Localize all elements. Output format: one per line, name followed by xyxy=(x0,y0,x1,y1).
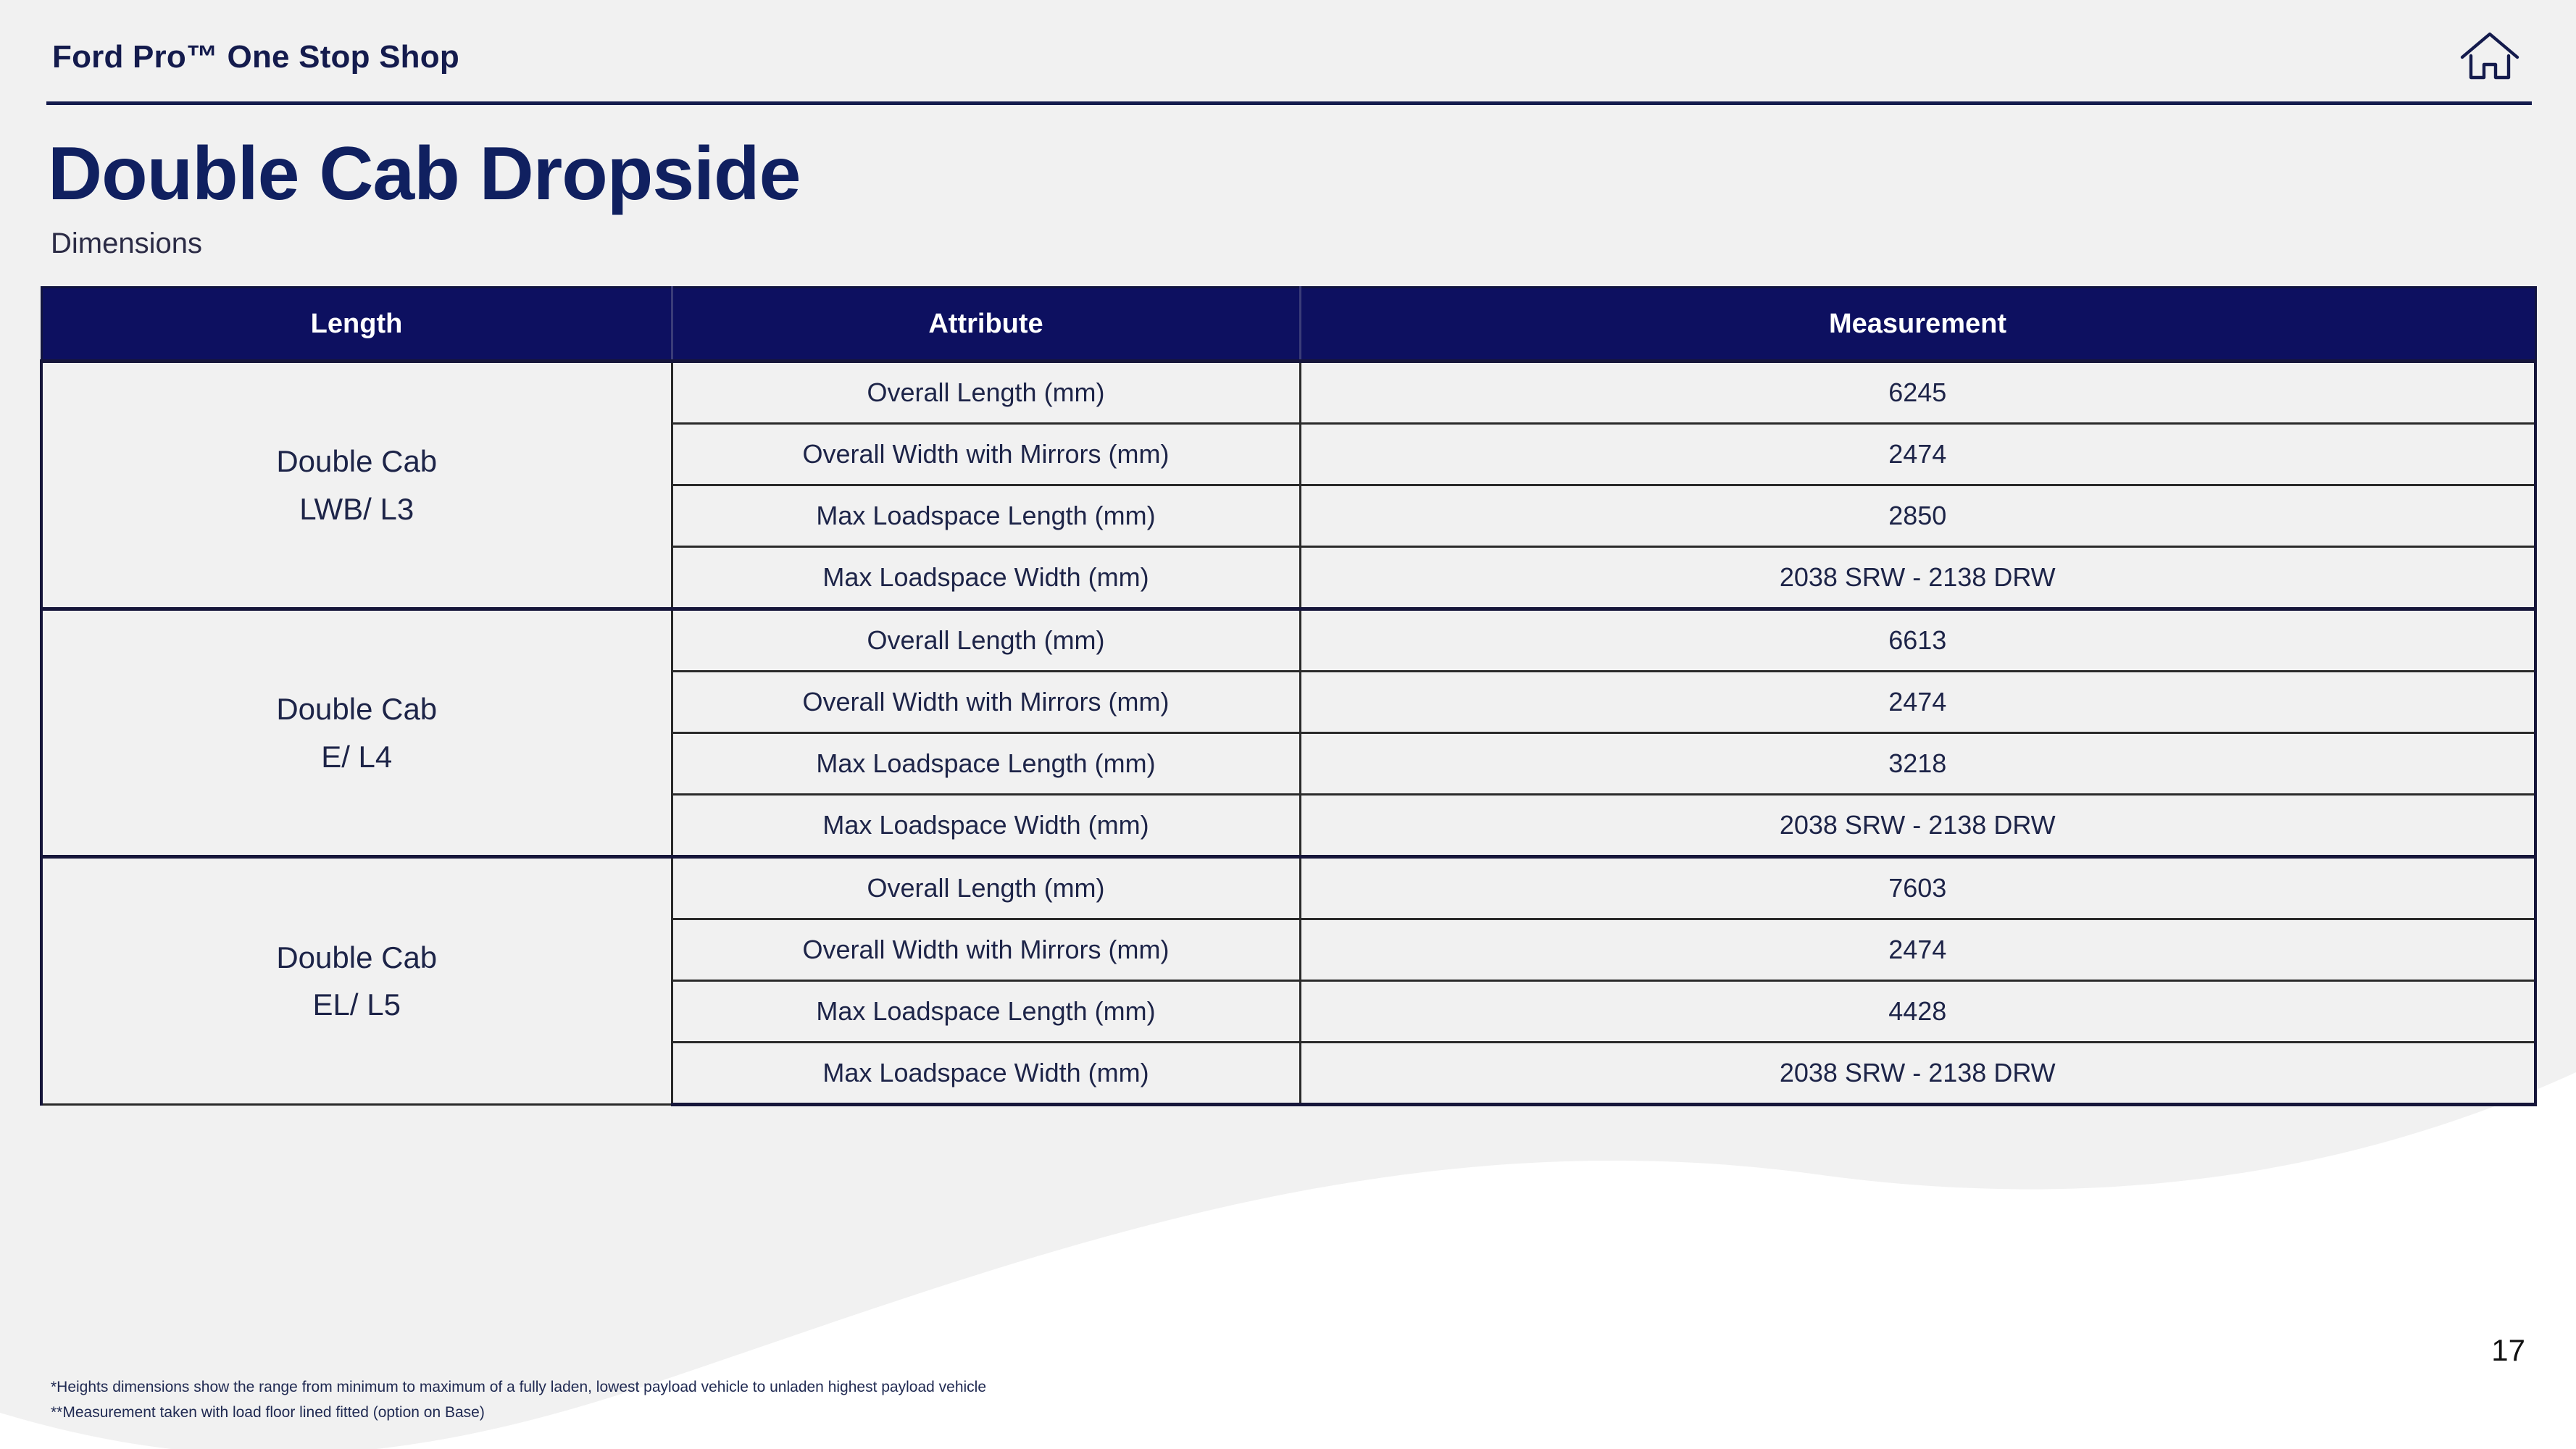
table-row: Double CabEL/ L5Overall Length (mm)7603 xyxy=(41,857,2535,919)
length-group-line-2: LWB/ L3 xyxy=(50,485,664,533)
footnote-line-2: **Measurement taken with load floor line… xyxy=(51,1400,986,1426)
home-icon[interactable] xyxy=(2456,28,2523,86)
attribute-cell: Max Loadspace Length (mm) xyxy=(672,981,1300,1043)
column-header-measurement: Measurement xyxy=(1300,288,2535,362)
measurement-cell: 4428 xyxy=(1300,981,2535,1043)
measurement-cell: 2038 SRW - 2138 DRW xyxy=(1300,547,2535,609)
measurement-cell: 7603 xyxy=(1300,857,2535,919)
length-group-line-1: Double Cab xyxy=(50,685,664,732)
footnotes: *Heights dimensions show the range from … xyxy=(51,1375,986,1425)
attribute-cell: Overall Width with Mirrors (mm) xyxy=(672,672,1300,733)
attribute-cell: Max Loadspace Length (mm) xyxy=(672,485,1300,547)
attribute-cell: Overall Width with Mirrors (mm) xyxy=(672,919,1300,981)
length-group-cell: Double CabE/ L4 xyxy=(41,609,672,857)
measurement-cell: 2038 SRW - 2138 DRW xyxy=(1300,1043,2535,1105)
table-header-row: Length Attribute Measurement xyxy=(41,288,2535,362)
length-group-cell: Double CabEL/ L5 xyxy=(41,857,672,1105)
page-number: 17 xyxy=(2491,1333,2525,1368)
table-body: Double CabLWB/ L3Overall Length (mm)6245… xyxy=(41,362,2535,1105)
attribute-cell: Overall Width with Mirrors (mm) xyxy=(672,424,1300,485)
length-group-line-2: EL/ L5 xyxy=(50,981,664,1028)
length-group-line-1: Double Cab xyxy=(50,438,664,485)
measurement-cell: 6245 xyxy=(1300,362,2535,424)
length-group-line-1: Double Cab xyxy=(50,934,664,981)
header-bar: Ford Pro™ One Stop Shop xyxy=(52,25,2523,90)
attribute-cell: Max Loadspace Length (mm) xyxy=(672,733,1300,795)
measurement-cell: 2474 xyxy=(1300,672,2535,733)
footnote-line-1: *Heights dimensions show the range from … xyxy=(51,1375,986,1400)
dimensions-table: Length Attribute Measurement Double CabL… xyxy=(40,286,2537,1106)
header-divider xyxy=(46,101,2532,105)
column-header-attribute: Attribute xyxy=(672,288,1300,362)
table-head: Length Attribute Measurement xyxy=(41,288,2535,362)
length-group-line-2: E/ L4 xyxy=(50,733,664,780)
column-header-length: Length xyxy=(41,288,672,362)
brand-title: Ford Pro™ One Stop Shop xyxy=(52,41,459,73)
measurement-cell: 6613 xyxy=(1300,609,2535,672)
slide: Ford Pro™ One Stop Shop Double Cab Drops… xyxy=(0,0,2576,1449)
page-subtitle: Dimensions xyxy=(51,226,202,261)
measurement-cell: 2474 xyxy=(1300,919,2535,981)
attribute-cell: Overall Length (mm) xyxy=(672,362,1300,424)
measurement-cell: 2474 xyxy=(1300,424,2535,485)
measurement-cell: 3218 xyxy=(1300,733,2535,795)
attribute-cell: Max Loadspace Width (mm) xyxy=(672,795,1300,857)
table-row: Double CabE/ L4Overall Length (mm)6613 xyxy=(41,609,2535,672)
measurement-cell: 2850 xyxy=(1300,485,2535,547)
measurement-cell: 2038 SRW - 2138 DRW xyxy=(1300,795,2535,857)
attribute-cell: Overall Length (mm) xyxy=(672,609,1300,672)
length-group-cell: Double CabLWB/ L3 xyxy=(41,362,672,609)
attribute-cell: Max Loadspace Width (mm) xyxy=(672,547,1300,609)
page-title: Double Cab Dropside xyxy=(48,135,800,214)
table-row: Double CabLWB/ L3Overall Length (mm)6245 xyxy=(41,362,2535,424)
attribute-cell: Max Loadspace Width (mm) xyxy=(672,1043,1300,1105)
attribute-cell: Overall Length (mm) xyxy=(672,857,1300,919)
